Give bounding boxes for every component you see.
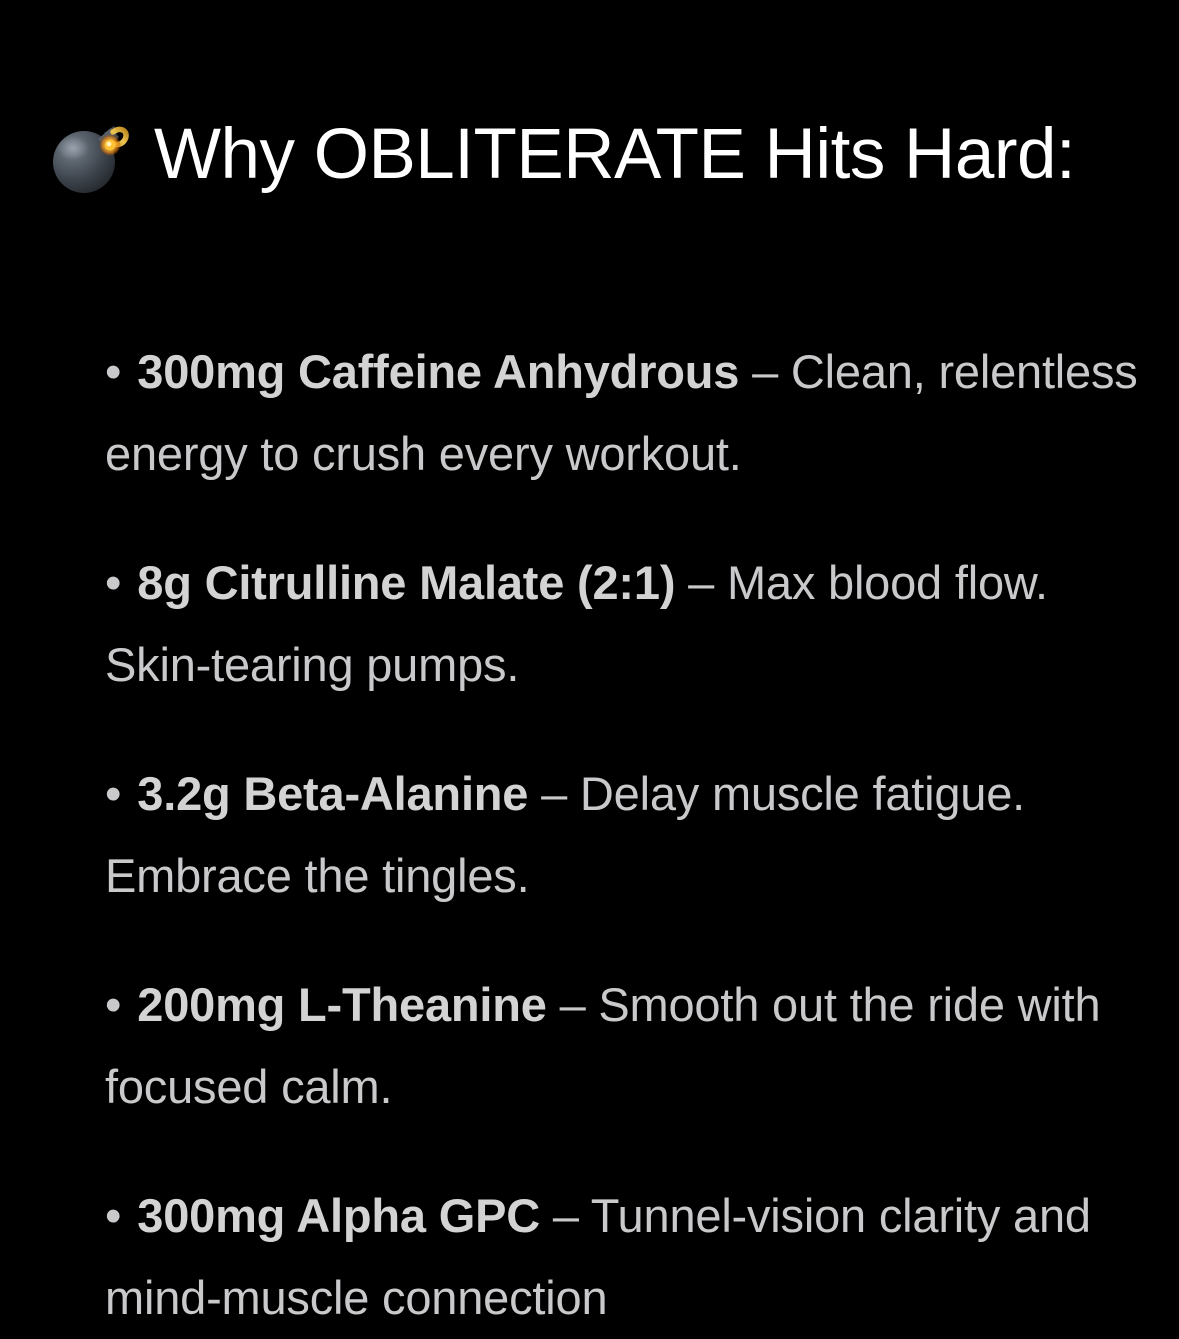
ingredient-list: •300mg Caffeine Anhydrous – Clean, relen…	[105, 284, 1140, 1339]
ingredient-name: 8g Citrulline Malate (2:1)	[137, 556, 675, 609]
separator-dash: –	[560, 978, 586, 1031]
ingredient-name: 200mg L-Theanine	[137, 978, 546, 1031]
separator-dash: –	[541, 767, 567, 820]
list-item: •300mg Alpha GPC – Tunnel-vision clarity…	[105, 1175, 1140, 1339]
ingredient-name: 300mg Caffeine Anhydrous	[137, 345, 739, 398]
bullet-marker: •	[105, 556, 137, 609]
list-item: •200mg L-Theanine – Smooth out the ride …	[105, 964, 1140, 1128]
list-item: •300mg Caffeine Anhydrous – Clean, relen…	[105, 331, 1140, 495]
page-title-text: Why OBLITERATE Hits Hard:	[154, 119, 1075, 190]
page-title: Why OBLITERATE Hits Hard:	[48, 112, 1075, 196]
bullet-marker: •	[105, 1189, 137, 1242]
bomb-emoji	[48, 112, 132, 196]
list-item: •8g Citrulline Malate (2:1) – Max blood …	[105, 542, 1140, 706]
list-item: •3.2g Beta-Alanine – Delay muscle fatigu…	[105, 753, 1140, 917]
product-benefits-panel: Why OBLITERATE Hits Hard: •300mg Caffein…	[0, 0, 1179, 1313]
bullet-marker: •	[105, 345, 137, 398]
bullet-marker: •	[105, 767, 137, 820]
separator-dash: –	[553, 1189, 579, 1242]
ingredient-name: 300mg Alpha GPC	[137, 1189, 540, 1242]
separator-dash: –	[752, 345, 778, 398]
separator-dash: –	[688, 556, 714, 609]
ingredient-name: 3.2g Beta-Alanine	[137, 767, 528, 820]
bullet-marker: •	[105, 978, 137, 1031]
